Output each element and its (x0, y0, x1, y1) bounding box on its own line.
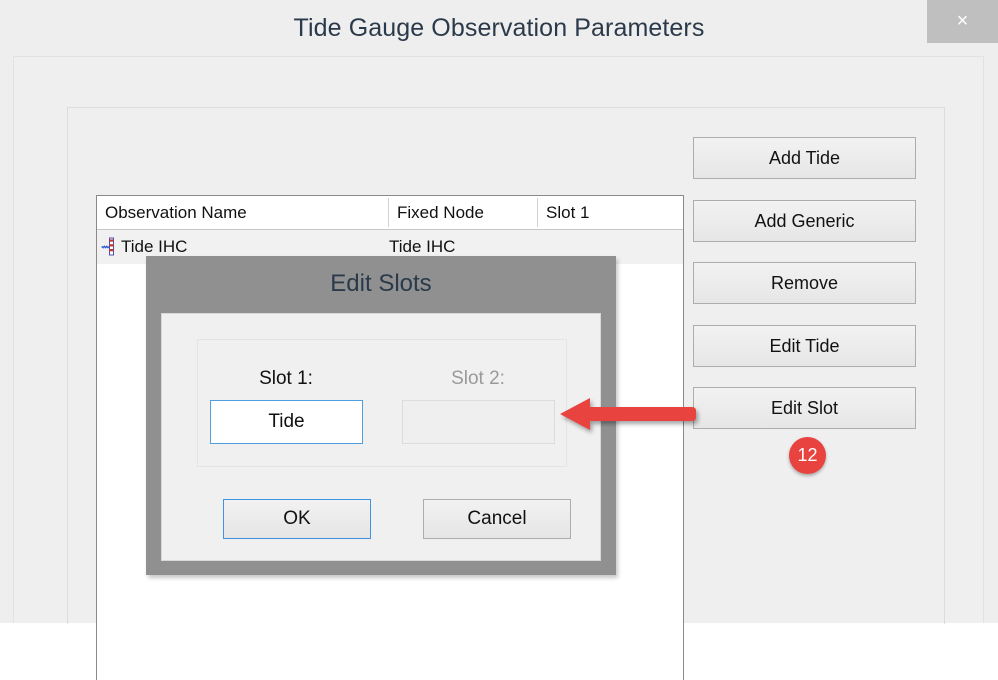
add-generic-button[interactable]: Add Generic (693, 200, 916, 242)
add-tide-button[interactable]: Add Tide (693, 137, 916, 179)
column-header-fixed-node[interactable]: Fixed Node (389, 196, 537, 229)
tide-gauge-icon (101, 237, 121, 257)
edit-slots-dialog: Edit Slots Slot 1: Slot 2: Tide OK Cance… (146, 256, 616, 575)
annotation-step-badge: 12 (789, 437, 826, 474)
slot-1-input[interactable]: Tide (210, 400, 363, 444)
slot-2-input (402, 400, 555, 444)
close-icon[interactable]: × (927, 0, 998, 43)
slot-2-label: Slot 2: (398, 368, 558, 390)
slot-1-label: Slot 1: (206, 368, 366, 390)
ok-button[interactable]: OK (223, 499, 371, 539)
column-header-slot-1[interactable]: Slot 1 (538, 196, 683, 229)
edit-slots-title: Edit Slots (146, 270, 616, 298)
slots-group-box: Slot 1: Slot 2: Tide (197, 339, 567, 467)
column-header-observation-name[interactable]: Observation Name (97, 196, 388, 229)
table-header-row: Observation Name Fixed Node Slot 1 (97, 196, 683, 230)
page-title: Tide Gauge Observation Parameters (0, 14, 998, 43)
cancel-button[interactable]: Cancel (423, 499, 571, 539)
edit-tide-button[interactable]: Edit Tide (693, 325, 916, 367)
edit-slots-body: Slot 1: Slot 2: Tide OK Cancel (161, 313, 601, 561)
edit-slot-button[interactable]: Edit Slot (693, 387, 916, 429)
remove-button[interactable]: Remove (693, 262, 916, 304)
annotation-arrow-icon (560, 396, 696, 432)
title-bar: Tide Gauge Observation Parameters × (0, 0, 998, 56)
dialog-window: Tide Gauge Observation Parameters × Obse… (0, 0, 998, 623)
